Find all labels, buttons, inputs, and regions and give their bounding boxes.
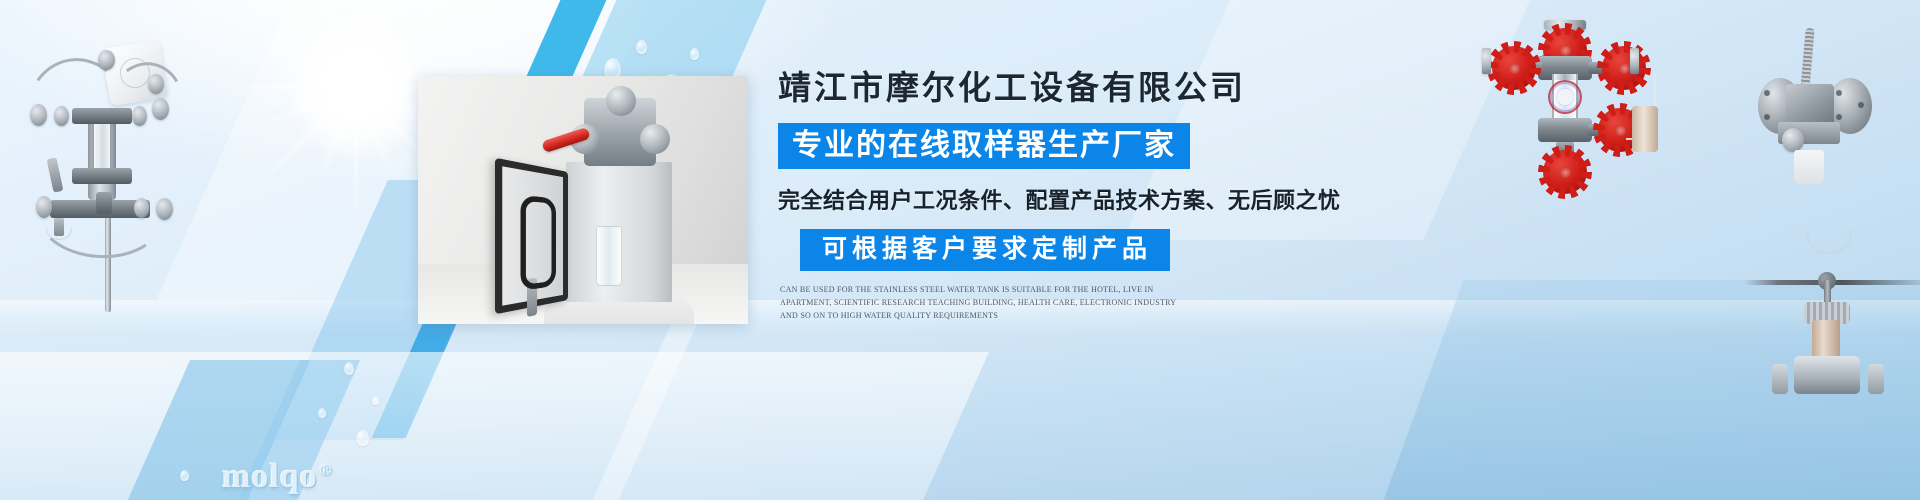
product-image-flanged-lever-valve xyxy=(1718,22,1898,192)
subline-text: 完全结合用户工况条件、配置产品技术方案、无后顾之忧 xyxy=(778,183,1398,215)
company-name: 靖江市摩尔化工设备有限公司 xyxy=(778,70,1398,110)
brand-seal-icon xyxy=(1548,80,1582,114)
tagline-secondary-badge: 可根据客户要求定制产品 xyxy=(800,229,1170,271)
banner-copy: 靖江市摩尔化工设备有限公司 专业的在线取样器生产厂家 完全结合用户工况条件、配置… xyxy=(778,70,1398,323)
english-description: CAN BE USED FOR THE STAINLESS STEEL WATE… xyxy=(780,284,1180,323)
water-droplet-icon xyxy=(690,48,699,60)
watermark-logo: molqo® xyxy=(222,458,333,496)
registered-mark-icon: ® xyxy=(320,462,333,479)
watermark-text: molqo xyxy=(222,458,318,495)
water-droplet-icon xyxy=(372,396,379,405)
water-droplet-icon xyxy=(636,40,647,54)
tagline-primary-badge: 专业的在线取样器生产厂家 xyxy=(778,123,1190,170)
product-image-valve-manifold xyxy=(1490,18,1680,168)
water-droplet-icon xyxy=(356,430,369,446)
water-droplet-icon xyxy=(344,362,354,375)
product-banner: 靖江市摩尔化工设备有限公司 专业的在线取样器生产厂家 完全结合用户工况条件、配置… xyxy=(0,0,1920,500)
product-photo-card xyxy=(418,76,748,324)
product-image-inline-sampling-valve xyxy=(1760,228,1920,408)
product-image-pole-mounted-sampler xyxy=(10,22,200,312)
water-droplet-icon xyxy=(180,470,189,481)
water-droplet-icon xyxy=(318,408,326,418)
